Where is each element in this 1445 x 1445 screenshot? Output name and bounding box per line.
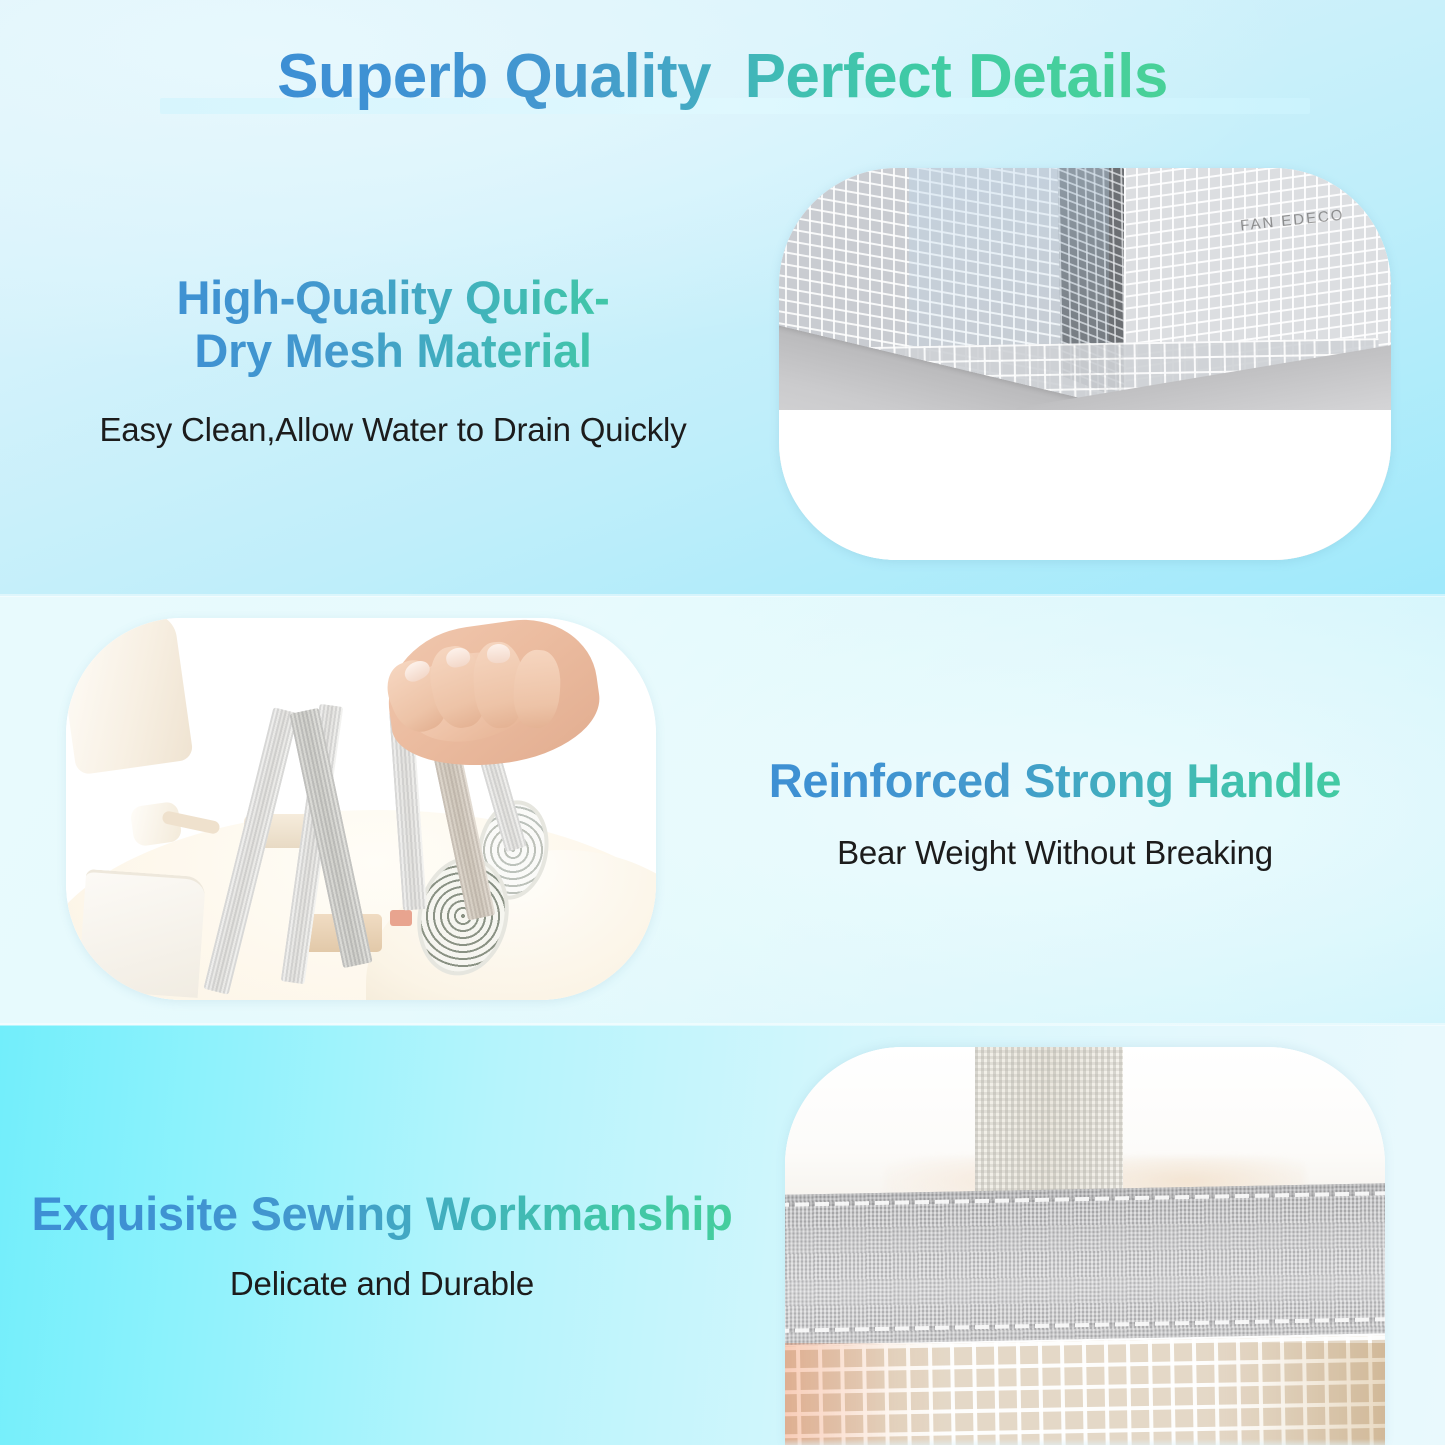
handle-strap-webbing <box>975 1047 1123 1197</box>
toiletry-bottle-large <box>66 618 194 775</box>
section-divider-1 <box>0 594 1445 597</box>
section-divider-2 <box>0 1023 1445 1026</box>
mesh-tint-right <box>1205 1343 1385 1445</box>
basket-wall <box>78 869 206 998</box>
product-feature-poster: Superb Quality Perfect Details FAN EDECO… <box>0 0 1445 1445</box>
page-title: Superb Quality Perfect Details <box>277 32 1168 122</box>
feature-photo-strong-handle <box>66 618 656 1000</box>
mesh-tint-left <box>785 1343 945 1445</box>
feature-heading-sewing-workmanship: Exquisite Sewing Workmanship <box>12 1188 752 1241</box>
feature-text-sewing-workmanship: Exquisite Sewing Workmanship Delicate an… <box>12 1188 752 1304</box>
feature-subtitle-strong-handle: Bear Weight Without Breaking <box>690 832 1420 873</box>
photo-white-base <box>779 410 1391 560</box>
poster-title-block: Superb Quality Perfect Details <box>0 32 1445 122</box>
feature-text-strong-handle: Reinforced Strong Handle Bear Weight Wit… <box>690 755 1420 873</box>
feature-photo-sewing-workmanship <box>785 1047 1385 1445</box>
feature-subtitle-mesh-material: Easy Clean,Allow Water to Drain Quickly <box>48 409 738 450</box>
feature-heading-mesh-material: High-Quality Quick- Dry Mesh Material <box>48 272 738 377</box>
feature-heading-strong-handle: Reinforced Strong Handle <box>690 755 1420 808</box>
feature-text-mesh-material: High-Quality Quick- Dry Mesh Material Ea… <box>48 272 738 451</box>
photo-bottom-fade <box>785 1439 1385 1445</box>
toiletry-jar-notch <box>390 910 412 926</box>
feature-subtitle-sewing-workmanship: Delicate and Durable <box>12 1263 752 1304</box>
feature-photo-mesh-material: FAN EDECO <box>779 168 1391 560</box>
